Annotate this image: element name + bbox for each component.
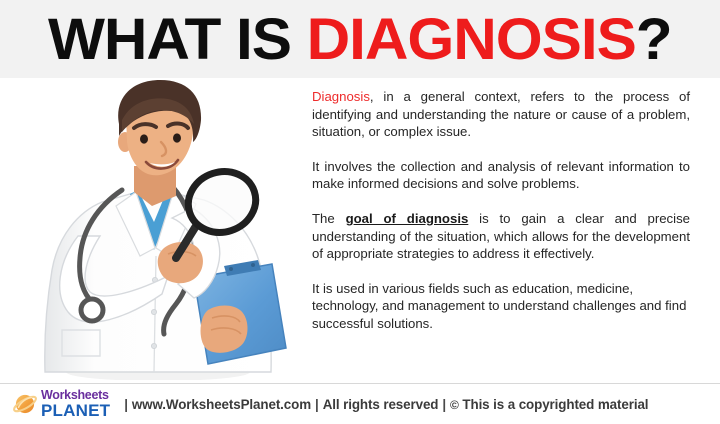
footer-credits: |www.WorksheetsPlanet.com|All rights res… [120, 397, 648, 412]
title-part-what-is: WHAT IS [48, 7, 307, 72]
right-hand-palm [201, 306, 248, 353]
keyword-goal-of-diagnosis: goal of diagnosis [346, 211, 469, 226]
coat-button-3 [151, 343, 156, 348]
copyright-icon: © [450, 398, 459, 412]
clipboard-clip-screw-1 [229, 267, 233, 271]
header-banner: WHAT IS DIAGNOSIS? [0, 0, 720, 78]
clipboard-clip-screw-2 [251, 263, 255, 267]
footer-rights: All rights reserved [323, 397, 439, 412]
paragraph-3-lead: The [312, 211, 346, 226]
planet-icon [12, 391, 38, 417]
title-part-diagnosis: DIAGNOSIS [307, 7, 636, 72]
stethoscope-chestpiece [81, 299, 103, 321]
coat-button-2 [151, 309, 156, 314]
content-area: Diagnosis, in a general context, refers … [0, 78, 720, 383]
footer-separator-1: | [120, 397, 132, 412]
page-title: WHAT IS DIAGNOSIS? [48, 11, 672, 69]
title-question-mark: ? [636, 7, 672, 72]
eye-right [173, 133, 181, 142]
worksheet-poster: WHAT IS DIAGNOSIS? [0, 0, 720, 424]
eye-left [140, 134, 148, 143]
footer-bar: Worksheets PLANET |www.WorksheetsPlanet.… [0, 383, 720, 424]
paragraph-2: It involves the collection and analysis … [312, 158, 690, 193]
doctor-illustration-svg [18, 80, 298, 380]
head [118, 80, 201, 206]
footer-copyright-text: This is a copyrighted material [462, 397, 648, 412]
right-hand [201, 306, 248, 353]
doctor-illustration [18, 80, 298, 380]
worksheets-planet-logo[interactable]: Worksheets PLANET [12, 389, 110, 420]
footer-separator-2: | [311, 397, 323, 412]
logo-wordmark: Worksheets PLANET [41, 389, 110, 420]
footer-separator-3: | [438, 397, 450, 412]
logo-word-worksheets: Worksheets [41, 389, 110, 402]
paragraph-4-text: It is used in various fields such as edu… [312, 281, 686, 331]
footer-website[interactable]: www.WorksheetsPlanet.com [132, 397, 311, 412]
keyword-diagnosis: Diagnosis [312, 89, 370, 104]
paragraph-4: It is used in various fields such as edu… [312, 280, 690, 333]
definition-text-block: Diagnosis, in a general context, refers … [312, 88, 690, 333]
paragraph-2-text: It involves the collection and analysis … [312, 159, 690, 192]
paragraph-3: The goal of diagnosis is to gain a clear… [312, 210, 690, 263]
logo-word-planet: PLANET [41, 402, 110, 419]
paragraph-1: Diagnosis, in a general context, refers … [312, 88, 690, 141]
